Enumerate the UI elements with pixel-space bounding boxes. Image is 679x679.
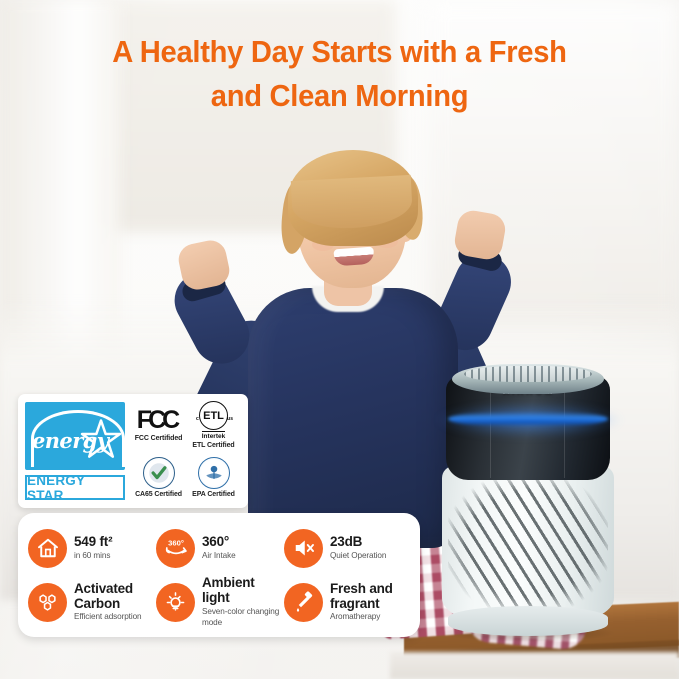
purifier-air-outlet <box>464 366 592 382</box>
feature-air-intake-sub: Air Intake <box>202 552 236 561</box>
cert-fcc-label: FCC Certifided <box>135 435 183 442</box>
lightbulb-glyph <box>163 590 188 615</box>
cert-epa-label: EPA Certified <box>192 491 235 498</box>
cert-ca65-label: CA65 Certified <box>135 491 182 498</box>
intertek-label: Intertek <box>202 431 225 440</box>
mute-speaker-glyph <box>292 536 316 560</box>
feature-noise-sub: Quiet Operation <box>330 552 386 561</box>
purifier-base <box>448 606 608 636</box>
feature-air-intake-text: 360° Air Intake <box>202 535 236 560</box>
page-title: A Healthy Day Starts with a Fresh and Cl… <box>20 30 658 118</box>
cert-epa: EPA Certified <box>186 451 241 503</box>
air-purifier-product: AIRROM <box>434 358 624 638</box>
fcc-icon: FCC <box>137 408 180 433</box>
lightbulb-icon <box>156 583 195 622</box>
epa-seal-icon <box>198 457 230 489</box>
cert-etl: c ETL us Intertek ETL Certified <box>186 399 241 451</box>
feature-ambient-light-text: Ambient light Seven-color changing mode <box>202 576 282 628</box>
energy-star-band-text: ENERGY STAR <box>27 473 123 503</box>
feature-noise-title: 23dB <box>330 535 386 550</box>
floor <box>390 652 679 679</box>
etl-us-mark: us <box>227 416 233 422</box>
cert-etl-label: ETL Certified <box>192 442 234 449</box>
feature-highlights-card: 549 ft² in 60 mins 360° 360° Air Intake <box>18 513 420 637</box>
cert-ca65: CA65 Certified <box>131 451 186 503</box>
ca65-seal-icon <box>143 457 175 489</box>
star-icon <box>80 418 122 460</box>
dropper-icon <box>284 583 323 622</box>
feature-coverage-title: 549 ft² <box>74 535 112 550</box>
feature-activated-carbon-sub: Efficient adsorption <box>74 613 154 622</box>
feature-activated-carbon-title: Activated Carbon <box>74 582 154 611</box>
epa-emblem-icon <box>201 460 227 486</box>
feature-coverage: 549 ft² in 60 mins <box>28 521 154 575</box>
certification-marks: FCC FCC Certifided c ETL us Intertek ETL… <box>125 399 241 503</box>
navy-shirt <box>248 288 458 548</box>
feature-air-intake-title: 360° <box>202 535 236 550</box>
rotate-360-icon: 360° <box>156 529 195 568</box>
etl-mark-text: ETL <box>203 410 224 422</box>
headline-line-2: and Clean Morning <box>20 74 658 118</box>
led-ring <box>448 412 608 426</box>
feature-aromatherapy-text: Fresh and fragrant Aromatherapy <box>330 582 410 622</box>
house-icon <box>28 529 67 568</box>
etl-circle: c ETL us <box>199 401 228 430</box>
honeycomb-icon <box>28 583 67 622</box>
feature-coverage-sub: in 60 mins <box>74 552 112 561</box>
cert-fcc: FCC FCC Certifided <box>131 399 186 451</box>
feature-noise-text: 23dB Quiet Operation <box>330 535 386 560</box>
feature-ambient-light-title: Ambient light <box>202 576 282 605</box>
feature-noise: 23dB Quiet Operation <box>284 521 410 575</box>
etl-icon: c ETL us Intertek <box>199 401 228 440</box>
feature-air-intake: 360° 360° Air Intake <box>156 521 282 575</box>
feature-aromatherapy-title: Fresh and fragrant <box>330 582 410 611</box>
purifier-grille <box>448 476 608 612</box>
feature-aromatherapy: Fresh and fragrant Aromatherapy <box>284 575 410 629</box>
house-glyph <box>36 536 60 560</box>
feature-activated-carbon: Activated Carbon Efficient adsorption <box>28 575 154 629</box>
ca65-checkmark-icon <box>146 460 172 486</box>
feature-activated-carbon-text: Activated Carbon Efficient adsorption <box>74 582 154 622</box>
energy-star-band: ENERGY STAR <box>25 475 125 500</box>
rotate-360-glyph: 360° <box>163 535 189 561</box>
headline-line-1: A Healthy Day Starts with a Fresh <box>20 30 658 74</box>
mute-speaker-icon <box>284 529 323 568</box>
feature-ambient-light-sub: Seven-color changing mode <box>202 607 282 628</box>
feature-aromatherapy-sub: Aromatherapy <box>330 613 410 622</box>
dropper-glyph <box>292 590 316 614</box>
etl-c-mark: c <box>196 416 199 422</box>
certification-card: energy ENERGY STAR FCC FCC Certifided c … <box>18 394 248 508</box>
svg-text:360°: 360° <box>168 539 184 548</box>
product-lifestyle-image: AIRROM A Healthy Day Starts with a Fresh… <box>0 0 679 679</box>
feature-ambient-light: Ambient light Seven-color changing mode <box>156 575 282 629</box>
energy-star-emblem: energy <box>25 402 125 470</box>
energy-star-badge: energy ENERGY STAR <box>25 402 125 500</box>
honeycomb-glyph <box>35 590 60 615</box>
feature-coverage-text: 549 ft² in 60 mins <box>74 535 112 560</box>
